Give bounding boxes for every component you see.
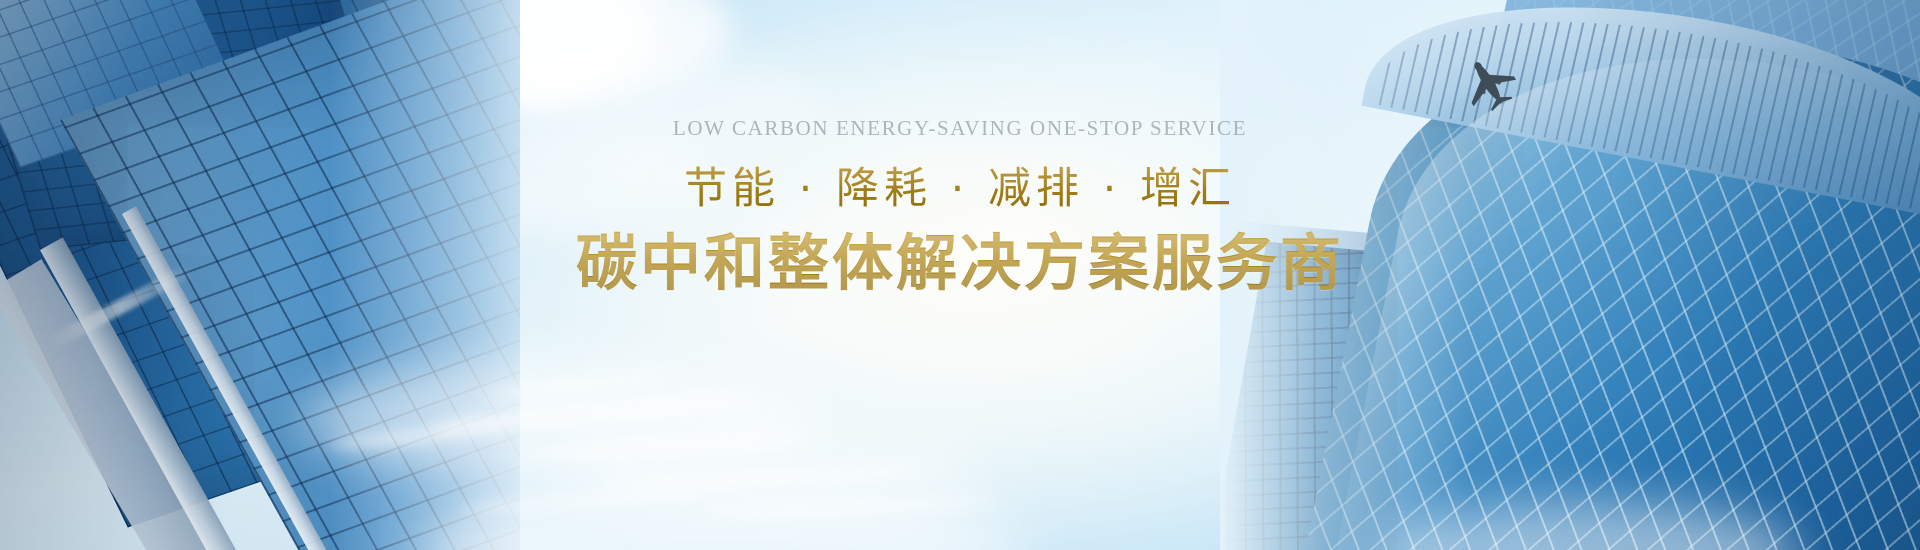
- banner-copy: LOW CARBON ENERGY-SAVING ONE-STOP SERVIC…: [0, 118, 1920, 300]
- airplane-icon: [1455, 52, 1521, 112]
- banner-eyebrow-english: LOW CARBON ENERGY-SAVING ONE-STOP SERVIC…: [0, 118, 1920, 139]
- banner-subline-keywords: 节能 · 降耗 · 减排 · 增汇: [0, 165, 1920, 214]
- hero-banner: LOW CARBON ENERGY-SAVING ONE-STOP SERVIC…: [0, 0, 1920, 550]
- banner-headline: 碳中和整体解决方案服务商: [0, 228, 1920, 300]
